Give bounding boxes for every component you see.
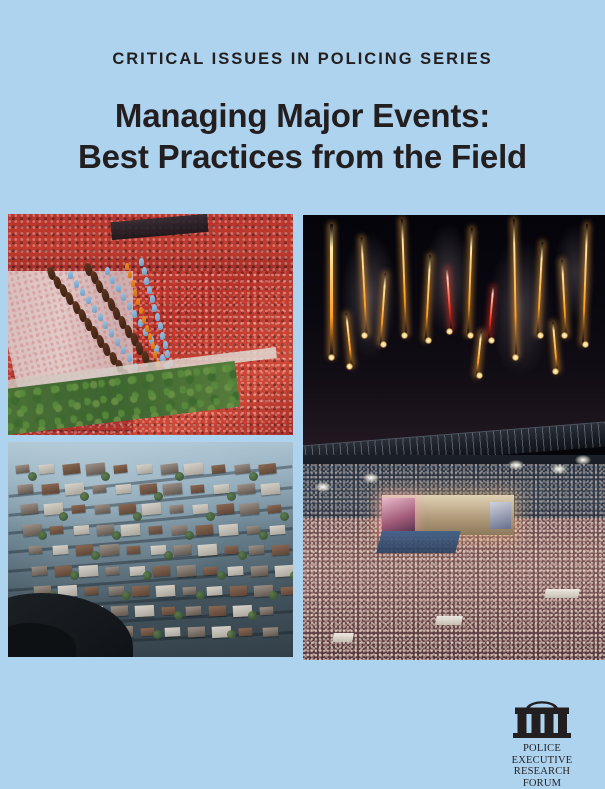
flood-rooftop [185,606,201,616]
flood-rooftop [155,585,175,597]
mounted-officer [68,271,73,279]
flood-rooftop [206,586,222,596]
stadium-video-screen-right [490,502,511,529]
flood-rooftop [39,463,55,474]
flood-rooftop [281,587,293,596]
flood-tree [238,551,247,560]
officer-orange-vest [145,325,149,332]
mounted-officer [110,276,115,284]
flood-rooftop [137,463,153,474]
flood-rooftop [31,566,47,576]
mounted-officer [121,293,126,301]
crowd-tent [435,616,463,625]
mounted-officer [80,288,85,296]
flood-rooftop [169,505,183,514]
firework-spark [488,337,495,344]
flood-rooftop [183,587,197,596]
stadium-stage-apron [376,531,460,553]
mounted-officer [121,346,126,354]
firework-spark [446,328,453,335]
officer-blue [160,332,165,340]
flood-rooftop [262,627,278,637]
flood-tree [122,591,131,600]
officer-blue [147,286,152,294]
flood-rooftop [246,525,260,534]
officer-blue [139,258,144,266]
mounted-officer [127,302,132,310]
flood-rooftop [148,525,162,534]
flood-rooftop [142,503,162,516]
flood-tree [91,551,100,560]
flood-tree [249,472,258,481]
crowd-tent [544,589,580,598]
flood-rooftop [78,564,98,577]
mounted-officer [116,284,121,292]
firework-spark [552,368,559,375]
firework-spark [537,332,544,339]
flood-rooftop [116,484,132,495]
stadium-video-screen-left [382,498,415,531]
flood-rooftop [50,525,64,534]
flood-rooftop [211,464,225,473]
officer-orange-vest [153,351,157,358]
officer-orange-vest [131,280,135,287]
flood-rooftop [209,606,227,617]
flood-rooftop [272,544,290,556]
publication-cover: CRITICAL ISSUES IN POLICING SERIES Manag… [0,0,605,786]
mounted-officer [127,354,132,362]
flood-rooftop [52,545,68,555]
firework-spark [425,337,432,344]
flood-rooftop [176,564,196,577]
flood-rooftop [163,482,183,495]
flood-rooftop [258,463,276,475]
page-title: Managing Major Events: Best Practices fr… [0,95,605,177]
flood-rooftop [99,544,119,557]
flood-rooftop [153,565,171,576]
firework-spark [401,332,408,339]
flood-rooftop [92,484,106,493]
flood-rooftop [73,525,89,535]
officer-blue [152,304,157,312]
flood-rooftop [227,566,243,576]
flood-tree [154,492,163,501]
flood-rooftop [120,523,140,536]
officer-orange-vest [139,307,143,314]
flood-tree [290,571,293,580]
flood-rooftop [269,525,285,535]
flood-rooftop [184,462,204,475]
flood-rooftop [85,587,99,596]
flood-rooftop [113,464,127,473]
officer-blue [150,295,155,303]
flood-tree [133,512,142,521]
mounted-officer [86,296,91,304]
officer-blue [163,341,168,349]
officer-orange-vest [151,342,155,349]
flood-rooftop [190,484,204,493]
officer-blue [158,322,163,330]
flood-rooftop [29,546,43,555]
photo-aerial-parade-crowd [8,214,293,435]
flood-rooftop [20,503,38,515]
officer-blue [165,350,170,358]
flood-tree [70,571,79,580]
flood-tree [217,571,226,580]
title-line-1: Managing Major Events: [0,95,605,136]
flood-tree [174,611,183,620]
officer-orange-vest [136,298,140,305]
crowd-tent [332,633,354,642]
flood-rooftop [235,463,251,474]
flood-tree [28,472,37,481]
officer-orange-vest [128,271,132,278]
officer-blue [155,313,160,321]
mounted-officer [98,313,103,321]
title-line-2: Best Practices from the Field [0,136,605,177]
firework-spark [582,341,589,348]
perf-classical-building-icon [505,697,579,739]
flood-rooftop [261,482,281,495]
photo-aerial-flooded-neighborhood [8,442,293,657]
flood-rooftop [134,605,154,617]
flood-rooftop [195,524,213,536]
flood-rooftop [260,607,274,616]
flood-tree [196,591,205,600]
flood-rooftop [251,565,269,576]
officer-orange-vest [133,289,137,296]
flood-tree [143,571,152,580]
flood-rooftop [62,463,80,475]
mounted-officer [74,280,79,288]
flood-rooftop [204,566,218,575]
flood-rooftop [127,546,141,555]
flood-rooftop [41,483,59,495]
flood-rooftop [230,585,248,596]
perf-logo: POLICE EXECUTIVE RESEARCH FORUM [497,697,587,773]
stadium-floodlight [315,482,331,492]
mounted-officer [115,338,120,346]
flood-rooftop [188,626,206,637]
flood-rooftop [17,484,33,495]
flood-rooftop [106,566,120,575]
flood-rooftop [197,544,217,557]
flood-rooftop [174,544,192,556]
flood-rooftop [15,464,29,473]
series-label: CRITICAL ISSUES IN POLICING SERIES [0,50,605,69]
stadium-floodlight [508,460,524,470]
perf-logo-line-1: POLICE EXECUTIVE [497,743,587,766]
officer-blue [142,267,147,275]
officer-orange-vest [148,333,152,340]
flood-rooftop [216,503,234,515]
mounted-officer [132,310,137,318]
flood-rooftop [240,503,260,516]
flood-tree [59,512,68,521]
mounted-officer [105,267,110,275]
photo-stadium-fireworks-concert [303,215,605,660]
flood-tree [269,591,278,600]
flood-rooftop [237,483,255,495]
perf-logo-text: POLICE EXECUTIVE RESEARCH FORUM [497,743,587,789]
flood-rooftop [267,505,281,514]
firework-spark [380,341,387,348]
stadium-floodlight [551,464,567,474]
flood-tree [248,611,257,620]
mounted-officer [92,305,97,313]
firework-spark [561,332,568,339]
flood-rooftop [218,523,238,536]
officer-orange-vest [125,263,129,270]
flood-tree [206,512,215,521]
flood-tree [280,512,289,521]
flood-rooftop [132,585,150,596]
flood-rooftop [239,628,253,637]
flood-rooftop [225,546,239,555]
flood-rooftop [248,545,264,555]
flood-rooftop [164,627,180,637]
flood-rooftop [94,504,110,514]
officer-orange-vest [142,316,146,323]
flood-rooftop [71,505,85,514]
